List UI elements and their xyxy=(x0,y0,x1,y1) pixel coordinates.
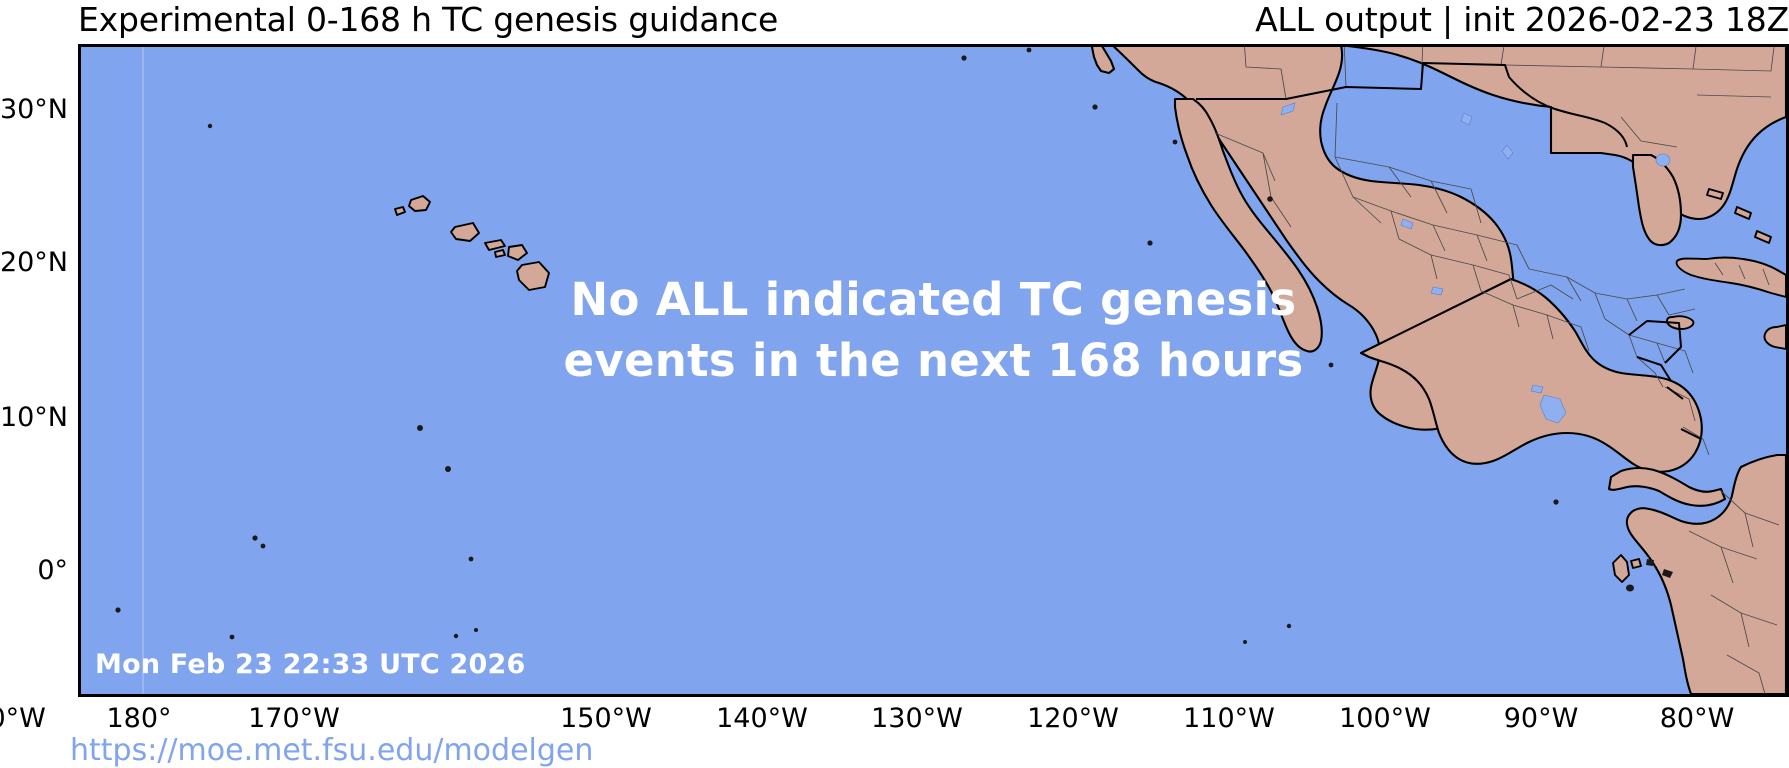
xtick-140w: 140°W xyxy=(716,703,808,735)
xtick-110w: 110°W xyxy=(1183,703,1275,735)
xtick-80w: 80°W xyxy=(1660,703,1735,735)
ytick-10n: 10°N xyxy=(68,402,136,434)
island-lanai xyxy=(495,250,505,257)
speck-south-2 xyxy=(454,634,458,638)
xtick-100w: 100°W xyxy=(1339,703,1431,735)
xtick-170w: 170°W xyxy=(248,703,340,735)
speck-south-5 xyxy=(1243,640,1247,644)
source-url-link[interactable]: https://moe.met.fsu.edu/modelgen xyxy=(70,733,593,768)
speck-cedros xyxy=(1173,140,1178,145)
xtick-150w: 150°W xyxy=(560,703,652,735)
xtick-130w: 130°W xyxy=(871,703,963,735)
speck-phoenix-1 xyxy=(252,535,257,540)
speck-phoenix-2 xyxy=(261,544,266,549)
speck-socorro xyxy=(1267,196,1273,202)
island-san-cristobal xyxy=(1646,559,1654,566)
speck-north-2 xyxy=(1027,48,1032,53)
island-floreana xyxy=(1626,585,1634,592)
speck-malden xyxy=(469,557,474,562)
speck-midway xyxy=(208,124,212,128)
speck-south-4 xyxy=(1287,624,1291,628)
speck-north-1 xyxy=(961,55,966,60)
xtick-180: 180° xyxy=(106,703,171,735)
page-title: Experimental 0-168 h TC genesis guidance xyxy=(78,0,778,42)
ytick-20n: 20°N xyxy=(68,247,136,279)
speck-tokelau xyxy=(115,607,120,612)
lake-okeechobee xyxy=(1656,154,1670,166)
speck-clipperton xyxy=(1329,363,1334,368)
speck-revillagigedo xyxy=(1147,240,1152,245)
generation-timestamp: Mon Feb 23 22:33 UTC 2026 xyxy=(95,649,525,680)
xtick-90w: 90°W xyxy=(1504,703,1579,735)
speck-kiritimati xyxy=(417,425,423,431)
tc-genesis-guidance-figure: Experimental 0-168 h TC genesis guidance… xyxy=(0,0,1789,768)
map-plot-area: No ALL indicated TC genesis events in th… xyxy=(78,44,1789,697)
speck-cocos-island xyxy=(1553,499,1558,504)
xtick-160w: 160°W xyxy=(0,703,46,735)
figure-subtitle: ALL output | init 2026-02-23 18Z xyxy=(1255,0,1789,42)
island-santa-cruz xyxy=(1631,559,1641,568)
world-map-graphic xyxy=(81,47,1786,694)
speck-guadalupe xyxy=(1092,104,1097,109)
ytick-30n: 30°N xyxy=(68,94,136,126)
speck-south-1 xyxy=(230,635,235,640)
speck-line-islands xyxy=(445,466,451,472)
xtick-120w: 120°W xyxy=(1027,703,1119,735)
speck-south-3 xyxy=(474,628,478,632)
ytick-0: 0° xyxy=(68,555,99,587)
